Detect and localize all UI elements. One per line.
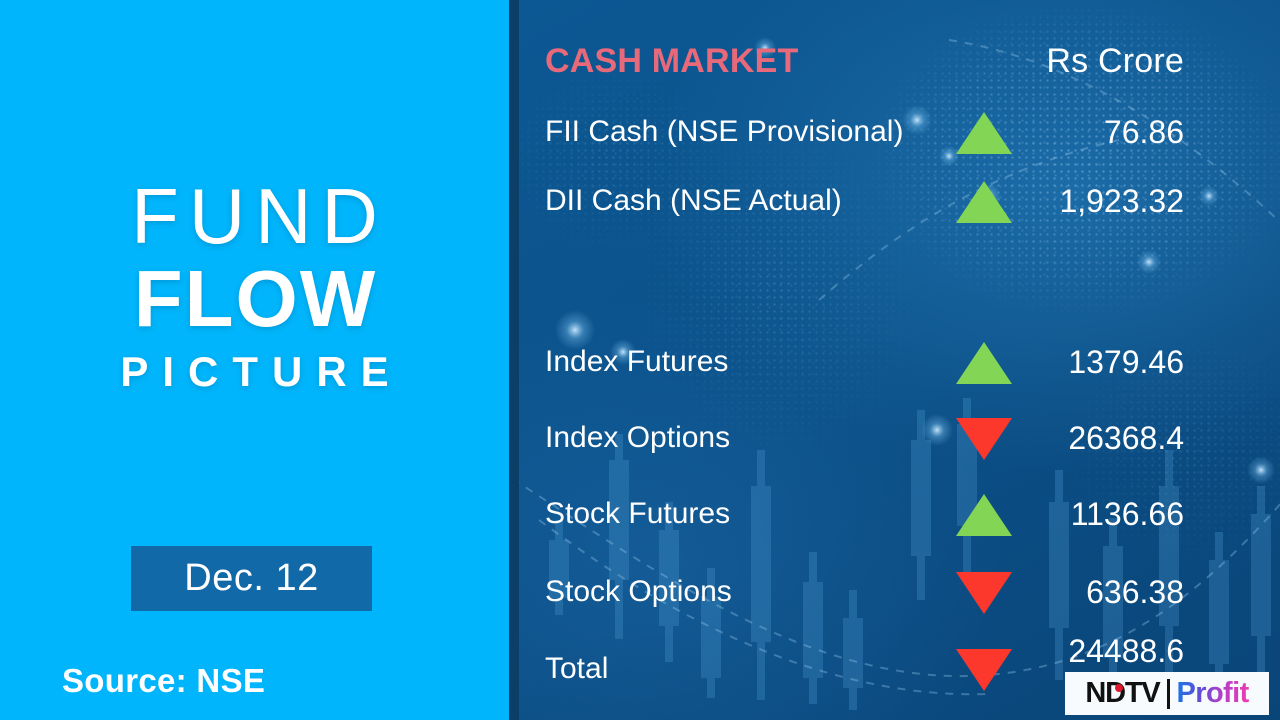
row-label: Index Futures: [545, 338, 728, 386]
row-value: 24488.6: [1068, 627, 1184, 675]
logo-divider-bar: [1167, 679, 1170, 709]
ndtv-wordmark: NDTV: [1085, 677, 1159, 710]
panel-divider: [509, 0, 519, 720]
ndtv-profit-logo: NDTV Profit: [1065, 672, 1269, 715]
row-value: 1136.66: [1071, 490, 1184, 538]
triangle-up-icon: [956, 342, 1012, 384]
fund-flow-picture-graphic: FUND FLOW PICTURE Dec. 12 Source: NSE: [0, 0, 1280, 720]
data-panel: CASH MARKET Rs Crore FII Cash (NSE Provi…: [519, 0, 1280, 720]
brand-line-fund: FUND: [0, 178, 509, 254]
table-row: DII Cash (NSE Actual) 1,923.32: [519, 177, 1280, 225]
table-row: FII Cash (NSE Provisional) 76.86: [519, 108, 1280, 156]
fund-flow-table: CASH MARKET Rs Crore FII Cash (NSE Provi…: [519, 0, 1280, 720]
row-value: 1,923.32: [1059, 177, 1184, 225]
triangle-down-icon: [956, 418, 1012, 460]
triangle-up-icon: [956, 112, 1012, 154]
row-label: Total: [545, 645, 608, 693]
table-row: Stock Options 636.38: [519, 568, 1280, 616]
profit-wordmark: Profit: [1177, 677, 1249, 710]
section-title-cash-market: CASH MARKET: [545, 42, 798, 81]
row-label: Stock Options: [545, 568, 732, 616]
source-label: Source: NSE: [62, 662, 265, 700]
table-row: Index Options 26368.4: [519, 414, 1280, 462]
brand-line-picture: PICTURE: [0, 348, 509, 396]
row-label: Stock Futures: [545, 490, 730, 538]
triangle-down-icon: [956, 649, 1012, 691]
row-value: 26368.4: [1068, 414, 1184, 462]
row-label: DII Cash (NSE Actual): [545, 177, 842, 225]
row-value: 1379.46: [1068, 338, 1184, 386]
brand-panel: FUND FLOW PICTURE Dec. 12 Source: NSE: [0, 0, 509, 720]
brand-line-flow: FLOW: [0, 258, 509, 340]
ndtv-wordmark-text: NDTV: [1085, 677, 1159, 709]
row-value: 636.38: [1086, 568, 1184, 616]
row-label: FII Cash (NSE Provisional): [545, 108, 903, 156]
row-value: 76.86: [1104, 108, 1184, 156]
table-row: Index Futures 1379.46: [519, 338, 1280, 386]
triangle-up-icon: [956, 494, 1012, 536]
table-row: Stock Futures 1136.66: [519, 490, 1280, 538]
date-badge-label: Dec. 12: [184, 557, 318, 600]
unit-label: Rs Crore: [1046, 42, 1184, 81]
row-label: Index Options: [545, 414, 730, 462]
triangle-up-icon: [956, 181, 1012, 223]
brand-title-block: FUND FLOW PICTURE: [0, 178, 509, 396]
triangle-down-icon: [956, 572, 1012, 614]
date-badge: Dec. 12: [131, 546, 372, 611]
